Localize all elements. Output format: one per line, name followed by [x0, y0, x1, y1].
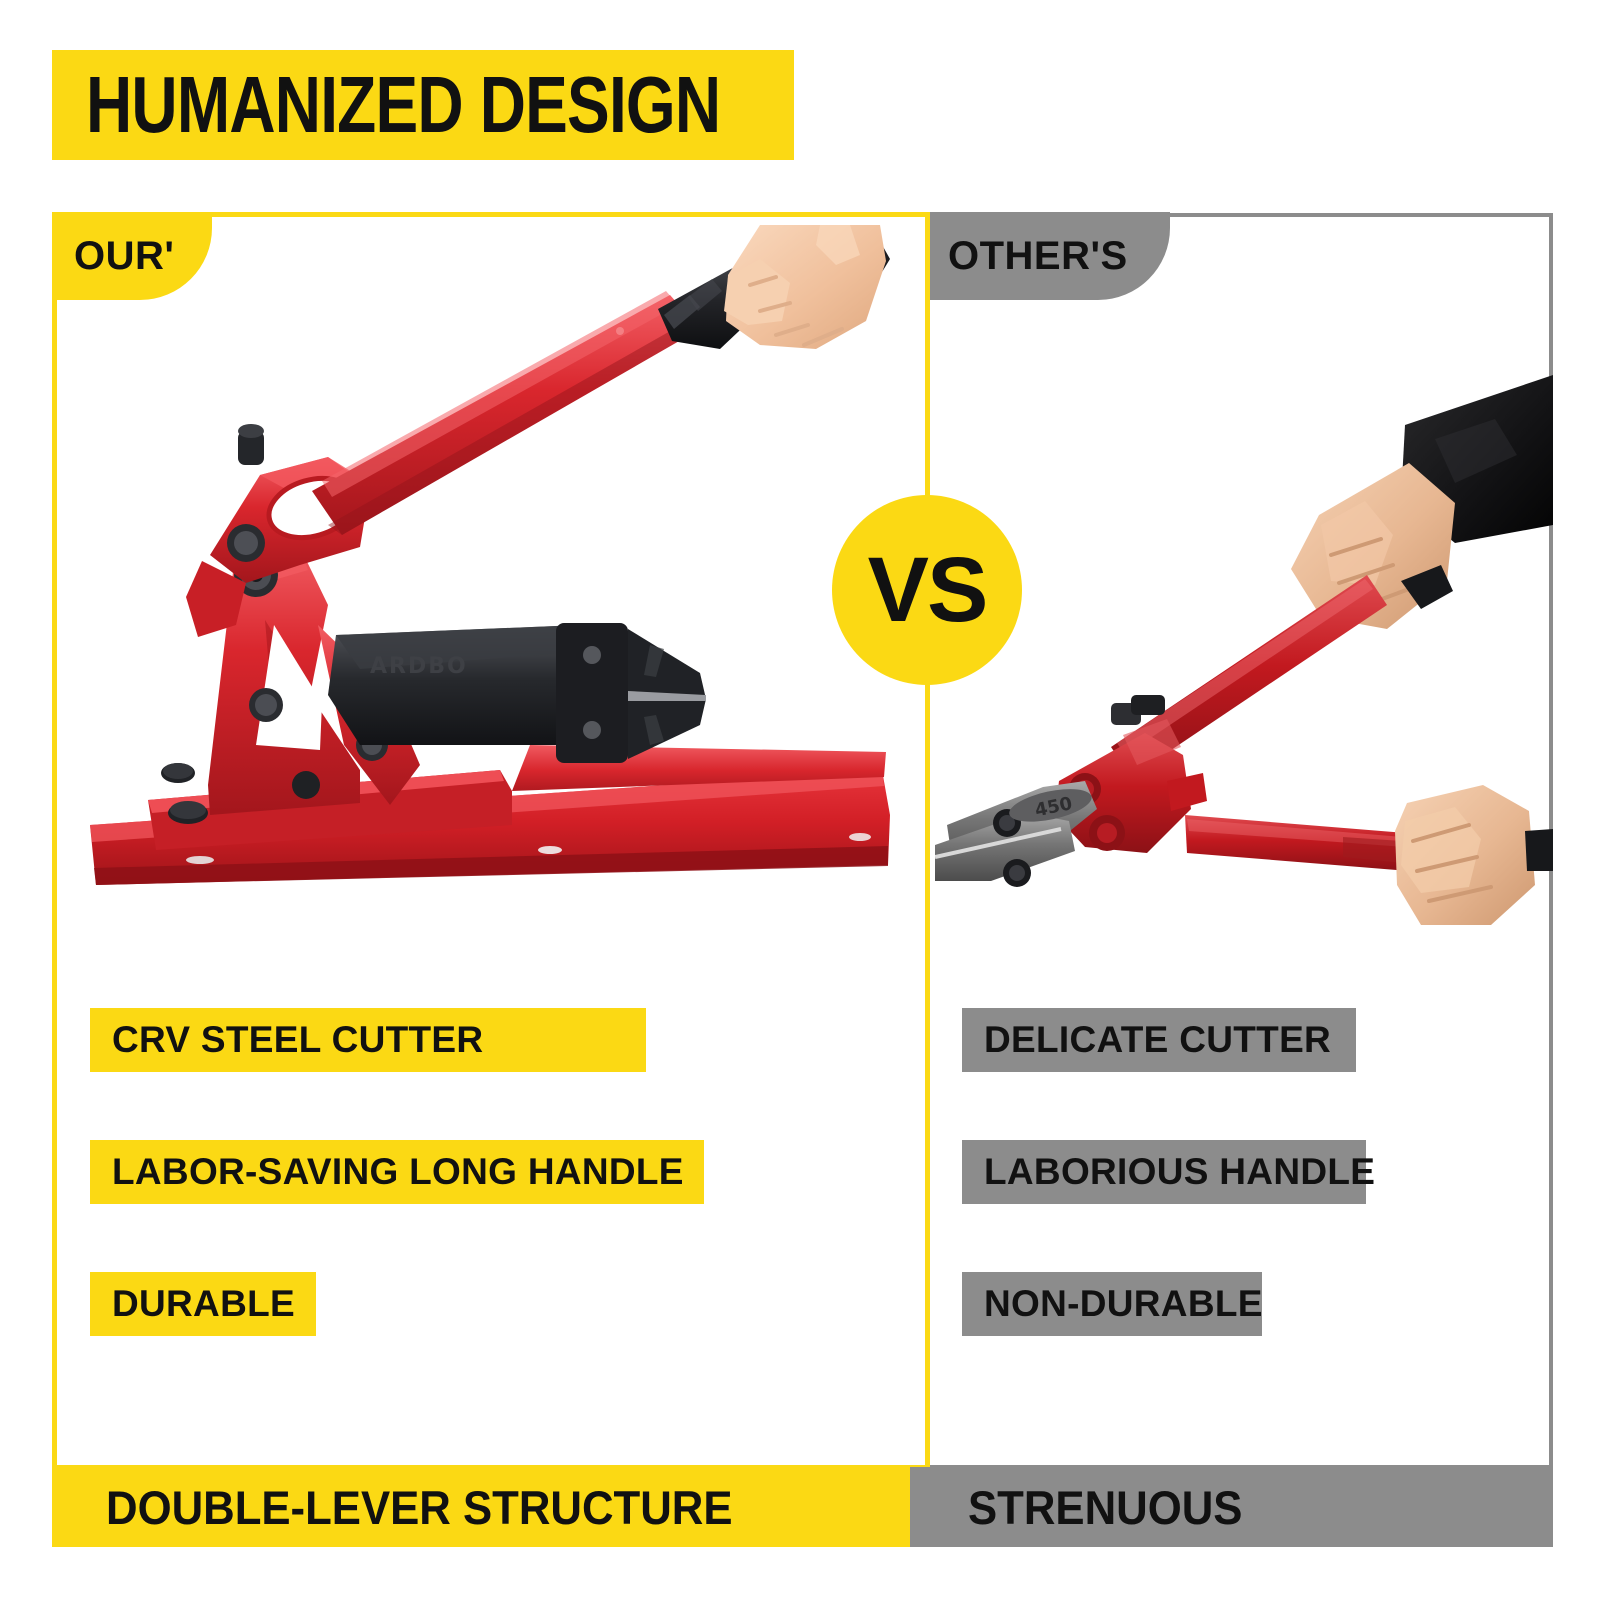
hand-upper-others [1291, 375, 1553, 629]
feature-others-1: DELICATE CUTTER [962, 1008, 1356, 1072]
feature-ours-1-label: CRV STEEL CUTTER [90, 1019, 505, 1061]
product-image-others: 450 [935, 225, 1553, 925]
product-image-ours: ARDBO [60, 225, 920, 925]
footer-others: STRENUOUS [910, 1467, 1553, 1547]
cutting-jaws: ARDBO [328, 623, 706, 763]
hand-lower-others [1395, 785, 1553, 925]
footer-others-label: STRENUOUS [968, 1480, 1242, 1535]
feature-ours-3-label: DURABLE [90, 1283, 317, 1325]
hand-ours [724, 225, 886, 349]
feature-ours-2-label: LABOR-SAVING LONG HANDLE [90, 1151, 706, 1193]
feature-ours-1: CRV STEEL CUTTER [90, 1008, 646, 1072]
feature-others-1-label: DELICATE CUTTER [962, 1019, 1353, 1061]
footer-ours-label: DOUBLE-LEVER STRUCTURE [106, 1480, 733, 1535]
title-banner: HUMANIZED DESIGN [52, 50, 794, 160]
tab-others: OTHER'S [930, 212, 1170, 300]
vs-badge: VS [832, 495, 1022, 685]
footer-ours: DOUBLE-LEVER STRUCTURE [52, 1467, 910, 1547]
page-title: HUMANIZED DESIGN [86, 65, 720, 145]
tab-ours-label: OUR' [74, 234, 174, 279]
feature-others-2: LABORIOUS HANDLE [962, 1140, 1366, 1204]
feature-ours-2: LABOR-SAVING LONG HANDLE [90, 1140, 704, 1204]
cutting-jaws-others: 450 [935, 781, 1097, 887]
lever-arm [312, 291, 700, 535]
feature-others-3-label: NON-DURABLE [962, 1283, 1285, 1325]
feature-ours-3: DURABLE [90, 1272, 316, 1336]
feature-others-3: NON-DURABLE [962, 1272, 1262, 1336]
jaw-marking-ours: ARDBO [370, 654, 468, 679]
feature-others-2-label: LABORIOUS HANDLE [962, 1151, 1397, 1193]
vs-label: VS [868, 538, 987, 643]
tab-others-label: OTHER'S [948, 234, 1128, 279]
